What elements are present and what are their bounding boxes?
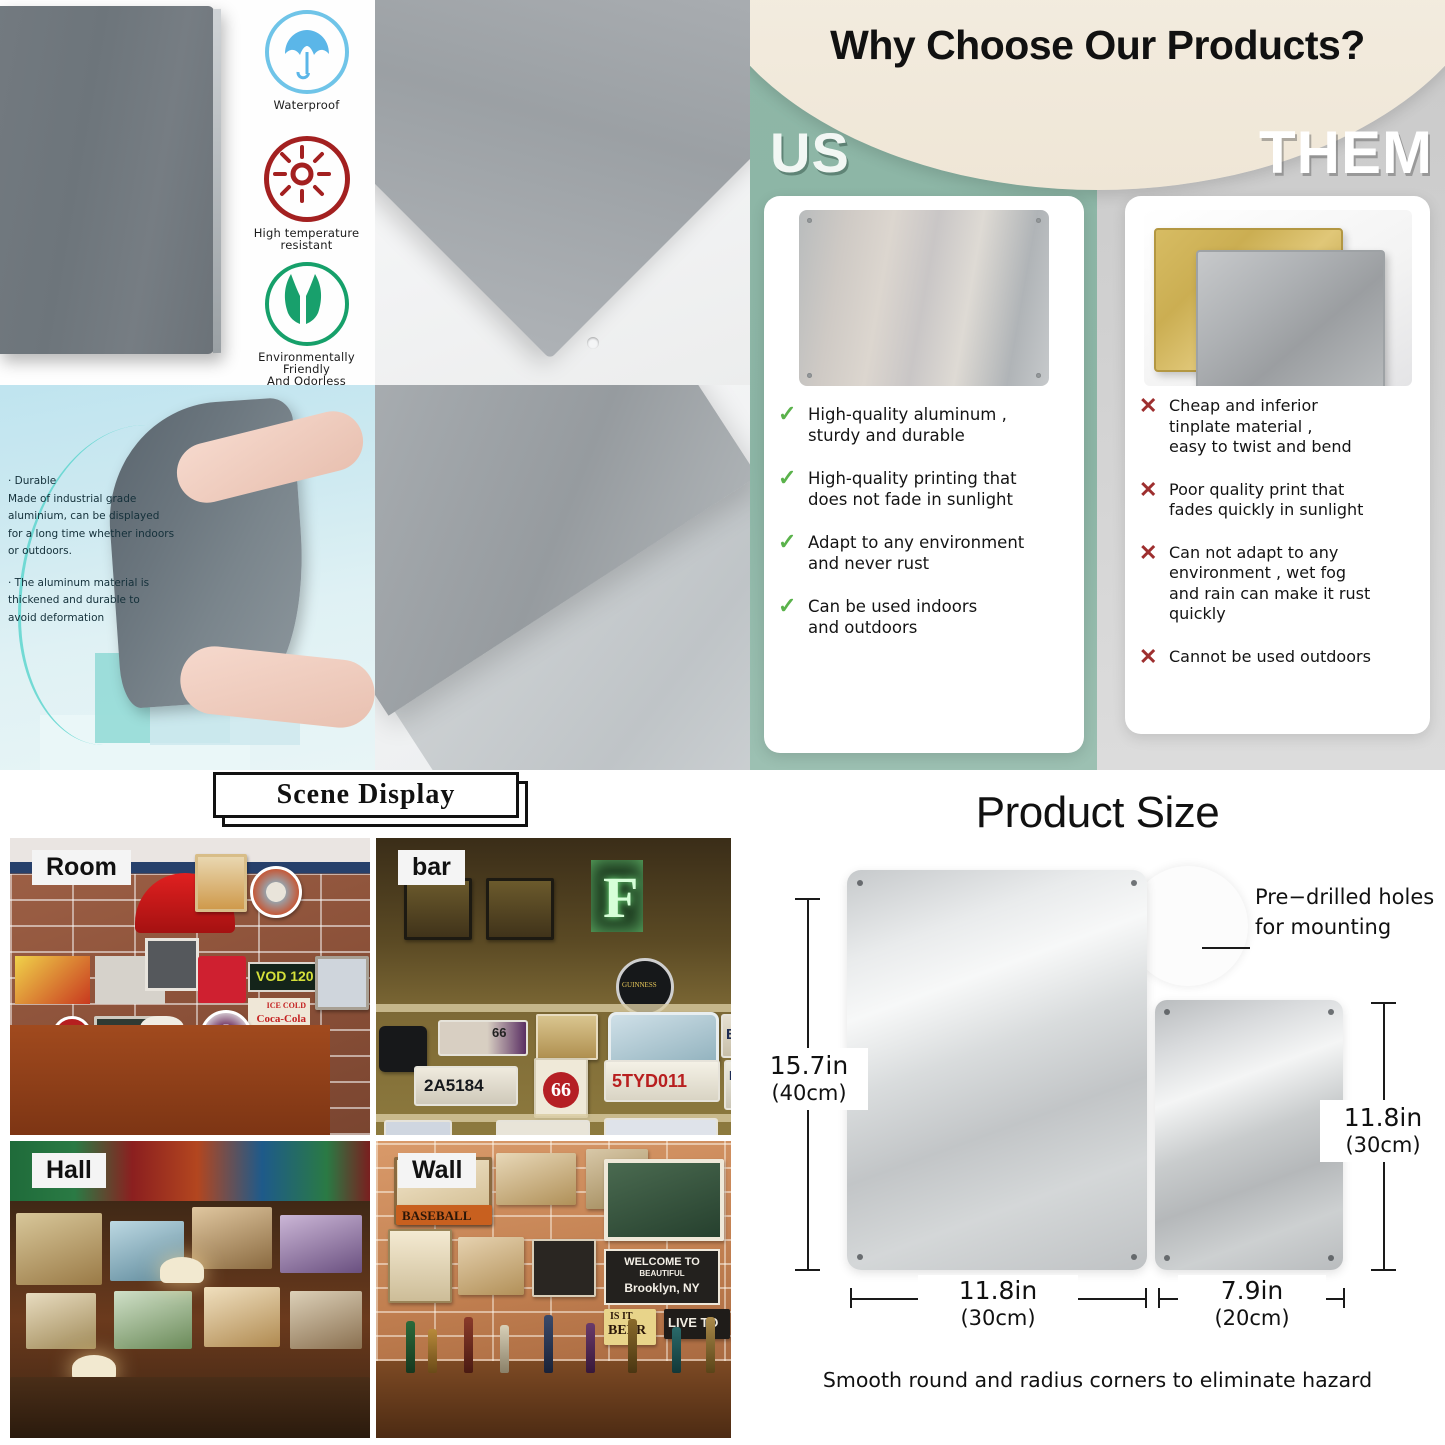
bdc-text: BDC bbox=[726, 1026, 731, 1043]
small-height-label: 11.8in (30cm) bbox=[1320, 1100, 1445, 1162]
us-card: ✓ High-quality aluminum , sturdy and dur… bbox=[764, 196, 1084, 753]
hole-dot bbox=[1164, 1009, 1170, 1015]
hanging-lamp-1 bbox=[160, 1257, 204, 1283]
them-label: THEM bbox=[1259, 118, 1433, 187]
hall-poster-1 bbox=[16, 1213, 102, 1285]
feature-label: High temperature resistant bbox=[238, 227, 375, 251]
hall-poster-5 bbox=[26, 1293, 96, 1349]
dim-cap bbox=[795, 898, 820, 900]
infographic-page: Waterproof High temperature resistant bbox=[0, 0, 1445, 1445]
scene-cell-room: VOD 120 ICE COLD Coca-Cola SOLD HERE Roo… bbox=[10, 838, 370, 1135]
license-plate-text: VOD 120 bbox=[256, 968, 314, 984]
big-width-label: 11.8in (30cm) bbox=[918, 1275, 1078, 1333]
small-width-cm: (20cm) bbox=[1178, 1305, 1326, 1331]
scene-cell-bar: 66 BDC 2A5184 66 5TYD011 HISTO bbox=[376, 838, 731, 1135]
benefit-text: High-quality printing that does not fade… bbox=[808, 468, 1017, 510]
dim-cap bbox=[1371, 1269, 1396, 1271]
scene-label-hall: Hall bbox=[32, 1153, 106, 1188]
scene-display-title: Scene Display bbox=[277, 779, 456, 811]
hole-dot bbox=[807, 218, 812, 223]
neon-letter-f bbox=[591, 860, 643, 932]
mounting-hole bbox=[587, 337, 599, 349]
welcome-line-3: Brooklyn, NY bbox=[606, 1281, 718, 1295]
bottle bbox=[406, 1321, 415, 1373]
bottom-plate-1 bbox=[384, 1120, 452, 1135]
durability-text: · Durable Made of industrial grade alumi… bbox=[8, 473, 188, 641]
wall-poster-2 bbox=[496, 1153, 576, 1205]
small-width-in: 7.9in bbox=[1178, 1277, 1326, 1305]
wooden-desk bbox=[10, 1025, 330, 1135]
list-item: ✕ Can not adapt to any environment , wet… bbox=[1139, 543, 1420, 625]
hole-dot bbox=[1131, 1254, 1137, 1260]
welcome-line-2: BEAUTIFUL bbox=[606, 1269, 718, 1278]
them-product-photo bbox=[1144, 210, 1412, 386]
benefit-text: Can be used indoors and outdoors bbox=[808, 596, 977, 638]
check-icon: ✓ bbox=[778, 532, 808, 552]
list-item: ✓ Adapt to any environment and never rus… bbox=[778, 532, 1074, 574]
bottle bbox=[586, 1323, 595, 1373]
big-height-label: 15.7in (40cm) bbox=[750, 1048, 868, 1110]
small-height-cm: (30cm) bbox=[1320, 1132, 1445, 1158]
durability-panel: · Durable Made of industrial grade alumi… bbox=[0, 385, 375, 770]
plate-2a5184: 2A5184 bbox=[414, 1066, 518, 1106]
plate-text: 5TYD011 bbox=[612, 1071, 687, 1092]
pre-drilled-holes-label: Pre−drilled holes for mounting bbox=[1255, 882, 1445, 942]
baseball-banner: BASEBALL bbox=[396, 1205, 492, 1225]
baseball-text: BASEBALL bbox=[402, 1208, 471, 1224]
hall-poster-7 bbox=[204, 1287, 280, 1347]
small-height-in: 11.8in bbox=[1320, 1104, 1445, 1132]
wall-poster-5 bbox=[458, 1237, 524, 1295]
check-icon: ✓ bbox=[778, 404, 808, 424]
round-clock-sign bbox=[250, 866, 302, 918]
umbrella-icon bbox=[265, 10, 349, 94]
plate-corner-photo bbox=[375, 0, 750, 385]
car-poster bbox=[15, 956, 90, 1004]
dim-cap bbox=[1343, 1288, 1345, 1308]
list-item: ✕ Poor quality print that fades quickly … bbox=[1139, 480, 1420, 521]
benefit-text: High-quality aluminum , sturdy and durab… bbox=[808, 404, 1007, 446]
us-benefit-list: ✓ High-quality aluminum , sturdy and dur… bbox=[778, 404, 1074, 660]
coke-top-text: ICE COLD bbox=[248, 998, 310, 1010]
route66-shield: 66 bbox=[534, 1058, 588, 1118]
big-width-cm: (30cm) bbox=[918, 1305, 1078, 1331]
us-product-photo bbox=[799, 210, 1049, 386]
wall-framed-art bbox=[604, 1159, 724, 1241]
bottle bbox=[544, 1315, 553, 1373]
feature-label: Waterproof bbox=[238, 99, 375, 111]
cross-icon: ✕ bbox=[1139, 543, 1169, 563]
license-plate-sign: VOD 120 bbox=[248, 962, 318, 992]
brooklyn-sign: WELCOME TO BEAUTIFUL Brooklyn, NY bbox=[604, 1249, 720, 1305]
hall-poster-6 bbox=[114, 1291, 192, 1349]
hole-dot bbox=[857, 1254, 863, 1260]
eco-hands-icon bbox=[265, 262, 349, 346]
bottle bbox=[500, 1325, 509, 1373]
sun-icon bbox=[264, 136, 350, 222]
small-plate-diagram bbox=[1155, 1000, 1343, 1270]
cross-icon: ✕ bbox=[1139, 480, 1169, 500]
bdc-plate: BDC bbox=[721, 1014, 731, 1058]
hole-dot bbox=[1131, 880, 1137, 886]
big-height-cm: (40cm) bbox=[750, 1080, 868, 1106]
big-height-in: 15.7in bbox=[750, 1052, 868, 1080]
list-item: ✕ Cheap and inferior tinplate material ,… bbox=[1139, 396, 1420, 458]
bottom-plate-3 bbox=[604, 1118, 718, 1135]
dim-cap bbox=[850, 1288, 852, 1308]
small-width-label: 7.9in (20cm) bbox=[1178, 1275, 1326, 1333]
scene-cell-hall: Hall bbox=[10, 1141, 370, 1438]
durability-paragraph-2: · The aluminum material is thickened and… bbox=[8, 575, 188, 628]
historic-plate: HISTO bbox=[724, 1060, 731, 1110]
hole-dot bbox=[807, 373, 812, 378]
list-item: ✕ Cannot be used outdoors bbox=[1139, 647, 1420, 668]
scene-photo-grid: VOD 120 ICE COLD Coca-Cola SOLD HERE Roo… bbox=[10, 838, 745, 1438]
flag-plate-sign: 66 bbox=[438, 1020, 528, 1056]
them-drawback-list: ✕ Cheap and inferior tinplate material ,… bbox=[1139, 396, 1420, 689]
large-plate-diagram bbox=[847, 870, 1147, 1270]
welcome-line-1: WELCOME TO bbox=[606, 1256, 718, 1268]
scene-cell-wall: WELCOME TO BEAUTIFUL Brooklyn, NY BASEBA… bbox=[376, 1141, 731, 1438]
product-size-footnote: Smooth round and radius corners to elimi… bbox=[750, 1368, 1445, 1392]
bottle bbox=[672, 1327, 681, 1373]
us-label: US bbox=[770, 120, 850, 185]
hole-dot bbox=[1328, 1009, 1334, 1015]
hole-dot bbox=[857, 880, 863, 886]
bottle bbox=[628, 1319, 637, 1373]
hole-dot bbox=[1328, 1255, 1334, 1261]
bottle bbox=[464, 1317, 473, 1373]
wall-chalkboard bbox=[532, 1239, 596, 1297]
bottom-plate-2 bbox=[496, 1120, 590, 1135]
bar-shelf-box-1 bbox=[404, 878, 472, 940]
historic-text: HISTO bbox=[729, 1068, 731, 1083]
plate-5tyd011: 5TYD011 bbox=[604, 1060, 720, 1102]
product-size-title: Product Size bbox=[750, 788, 1445, 838]
scene-label-room: Room bbox=[32, 850, 131, 885]
gray-framed-sign bbox=[145, 938, 199, 991]
plate-stack-photo bbox=[375, 385, 750, 770]
wall-poster-4 bbox=[388, 1229, 452, 1303]
feature-item-waterproof: Waterproof bbox=[238, 10, 375, 111]
hall-poster-4 bbox=[280, 1215, 362, 1273]
shelf-line-1 bbox=[376, 1004, 731, 1012]
scene-display-header: Scene Display bbox=[213, 772, 523, 818]
bar-shelf-box-2 bbox=[486, 878, 554, 940]
coke-mid-text: Coca-Cola bbox=[248, 1010, 310, 1025]
header-box: Scene Display bbox=[213, 772, 519, 818]
product-size-section: Product Size Pre−drilled holes for mount… bbox=[750, 770, 1445, 1445]
big-width-in: 11.8in bbox=[918, 1277, 1078, 1305]
tablet-sign bbox=[315, 956, 369, 1010]
hall-poster-8 bbox=[290, 1291, 362, 1349]
feature-icon-list: Waterproof High temperature resistant bbox=[238, 0, 375, 385]
bottle bbox=[428, 1329, 437, 1373]
hall-counter bbox=[10, 1377, 370, 1438]
cross-icon: ✕ bbox=[1139, 647, 1169, 667]
plate-sheet-shape bbox=[375, 0, 750, 359]
hole-dot bbox=[1036, 218, 1041, 223]
scene-label-bar: bar bbox=[398, 850, 465, 885]
plate-text: 2A5184 bbox=[424, 1076, 484, 1096]
check-icon: ✓ bbox=[778, 596, 808, 616]
route66-number: 66 bbox=[543, 1072, 579, 1108]
hole-dot bbox=[1164, 1255, 1170, 1261]
drawback-text: Can not adapt to any environment , wet f… bbox=[1169, 543, 1370, 625]
list-item: ✓ High-quality printing that does not fa… bbox=[778, 468, 1074, 510]
drawback-text: Poor quality print that fades quickly in… bbox=[1169, 480, 1363, 521]
dim-cap bbox=[1158, 1288, 1160, 1308]
hole-dot bbox=[1036, 373, 1041, 378]
bottle bbox=[706, 1317, 715, 1373]
comparison-title: Why Choose Our Products? bbox=[750, 22, 1445, 69]
benefit-text: Adapt to any environment and never rust bbox=[808, 532, 1024, 574]
dim-cap bbox=[795, 1269, 820, 1271]
hall-poster-3 bbox=[192, 1207, 272, 1269]
scene-label-wall: Wall bbox=[398, 1153, 476, 1188]
feature-label: Environmentally Friendly And Odorless bbox=[238, 351, 375, 387]
vintage-sign bbox=[536, 1014, 598, 1060]
durability-paragraph-1: · Durable Made of industrial grade alumi… bbox=[8, 473, 188, 561]
them-card: ✕ Cheap and inferior tinplate material ,… bbox=[1125, 196, 1430, 734]
framed-sign bbox=[195, 854, 247, 912]
route66-text: 66 bbox=[492, 1025, 506, 1040]
feature-item-heat: High temperature resistant bbox=[238, 136, 375, 251]
check-icon: ✓ bbox=[778, 468, 808, 488]
drawback-text: Cannot be used outdoors bbox=[1169, 647, 1371, 668]
hole-callout-line bbox=[1202, 947, 1250, 949]
comparison-section: Why Choose Our Products? US THEM ✓ High-… bbox=[750, 0, 1445, 770]
drawback-text: Cheap and inferior tinplate material , e… bbox=[1169, 396, 1352, 458]
cross-icon: ✕ bbox=[1139, 396, 1169, 416]
list-item: ✓ Can be used indoors and outdoors bbox=[778, 596, 1074, 638]
dim-cap bbox=[1145, 1288, 1147, 1308]
feature-item-eco: Environmentally Friendly And Odorless bbox=[238, 262, 375, 387]
list-item: ✓ High-quality aluminum , sturdy and dur… bbox=[778, 404, 1074, 446]
dim-cap bbox=[1371, 1002, 1396, 1004]
red-oval-sign bbox=[198, 956, 246, 1003]
aluminum-plate-image bbox=[0, 6, 214, 354]
silver-tinplate-image bbox=[1196, 250, 1385, 386]
